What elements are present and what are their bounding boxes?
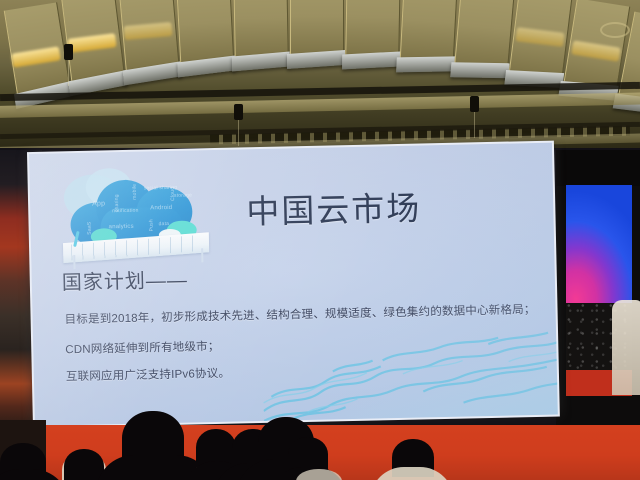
standing-person: [612, 300, 640, 395]
ceiling: [0, 0, 640, 152]
slide-body-line-1: 目标是到2018年，初步形成技术先进、结构合理、规模适度、绿色集约的数据中心新格…: [64, 301, 535, 327]
slide-body-line-2: CDN网络延伸到所有地级市；: [65, 338, 220, 357]
slide-title: 中国云市场: [246, 181, 422, 233]
ceiling-spotlight: [234, 104, 243, 120]
projection-screen: App sharing social sharing notification …: [27, 141, 560, 428]
cloud-word: notification: [112, 208, 138, 215]
presentation-slide: App sharing social sharing notification …: [29, 143, 558, 426]
cloud-word: Android: [150, 205, 172, 211]
slide-heading: 国家计划——: [61, 264, 188, 296]
ceiling-spotlight: [470, 96, 479, 112]
cloud-word: Push: [148, 219, 154, 231]
ceiling-wire: [68, 60, 69, 86]
cloud-word: App: [92, 200, 105, 207]
ceiling-wire: [474, 112, 475, 138]
audience-member: [64, 449, 104, 480]
bench-leg: [201, 248, 203, 262]
slide-body-line-3: 互联网应用广泛支持IPv6协议。: [66, 365, 231, 385]
audience-member-shoulders: [370, 467, 454, 480]
cloud-word: mobile: [132, 184, 138, 200]
ceiling-wire: [238, 120, 239, 146]
cloud-word: storage: [174, 192, 192, 198]
conference-photo-scene: App sharing social sharing notification …: [0, 0, 640, 480]
right-backdrop-top: [556, 150, 640, 186]
audience-member-shoulders: [0, 469, 70, 480]
audience: [0, 405, 640, 480]
cloud-illustration: App sharing social sharing notification …: [61, 166, 213, 269]
ceiling-spotlight: [64, 44, 73, 60]
side-led-screen: [566, 185, 632, 305]
ceiling-fixture: [600, 22, 630, 38]
